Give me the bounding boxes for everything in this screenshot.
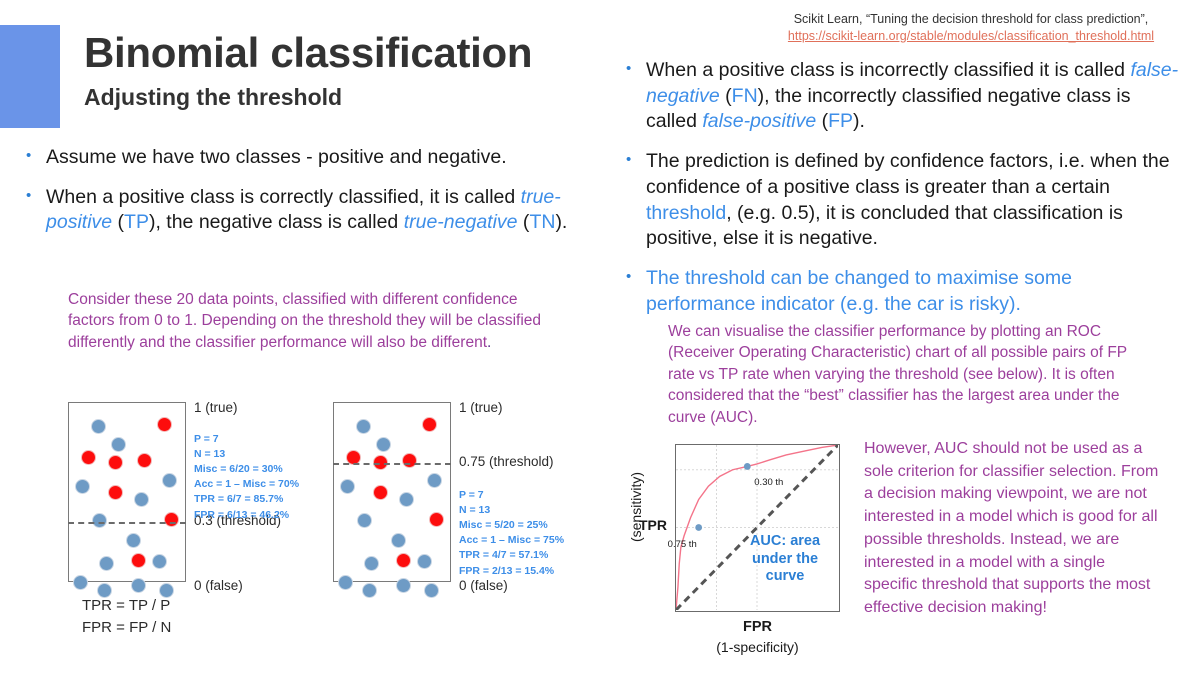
- data-point-negative: [399, 492, 414, 507]
- roc-x-axis-sublabel: (1-specificity): [675, 639, 840, 655]
- data-point-negative: [73, 575, 88, 590]
- threshold-label-b: 0.75 (threshold): [459, 454, 554, 469]
- data-point-positive: [131, 553, 146, 568]
- right-bullet-item: •When a positive class is incorrectly cl…: [626, 58, 1184, 135]
- data-point-negative: [357, 513, 372, 528]
- data-point-positive: [108, 455, 123, 470]
- left-bullet-list: •Assume we have two classes - positive a…: [26, 145, 606, 250]
- left-bullet-text: When a positive class is correctly class…: [46, 185, 606, 236]
- data-point-negative: [362, 583, 377, 598]
- data-point-negative: [427, 473, 442, 488]
- data-point-negative: [424, 583, 439, 598]
- data-point-negative: [92, 513, 107, 528]
- auc-caveat-note: However, AUC should not be used as a sol…: [864, 438, 1159, 620]
- data-point-positive: [402, 453, 417, 468]
- bullet-marker-icon: •: [626, 58, 646, 79]
- left-bullet-item: •Assume we have two classes - positive a…: [26, 145, 606, 171]
- left-note-text: Consider these 20 data points, classifie…: [68, 291, 541, 351]
- slide: Scikit Learn, “Tuning the decision thres…: [0, 0, 1200, 675]
- data-point-negative: [111, 437, 126, 452]
- citation-text: Scikit Learn, “Tuning the decision thres…: [794, 12, 1149, 26]
- left-bullet-item: •When a positive class is correctly clas…: [26, 185, 606, 236]
- title-block: Binomial classification Adjusting the th…: [84, 30, 644, 111]
- citation-url-link[interactable]: https://scikit-learn.org/stable/modules/…: [756, 28, 1186, 45]
- data-point-negative: [75, 479, 90, 494]
- stat-line: N = 13: [194, 447, 299, 462]
- top-label-b: 1 (true): [459, 400, 503, 415]
- threshold-line-a: [68, 522, 186, 524]
- data-point-positive: [157, 417, 172, 432]
- right-note-paragraph: We can visualise the classifier performa…: [668, 321, 1148, 428]
- data-point-negative: [131, 578, 146, 593]
- data-point-negative: [356, 419, 371, 434]
- stat-line: Acc = 1 – Misc = 70%: [194, 477, 299, 492]
- roc-point-label-075: 0.75 th: [668, 539, 697, 550]
- stat-line: TPR = 6/7 = 85.7%: [194, 492, 299, 507]
- roc-x-axis-label: FPR: [675, 619, 840, 635]
- data-point-positive: [164, 512, 179, 527]
- roc-y-axis-label: TPR: [639, 517, 667, 533]
- left-note-paragraph: Consider these 20 data points, classifie…: [68, 289, 558, 353]
- roc-plot-area: [675, 444, 840, 612]
- accent-square-decoration: [0, 25, 60, 128]
- bullet-marker-icon: •: [626, 266, 646, 287]
- threshold-line-b: [333, 463, 451, 465]
- right-bullet-item: •The threshold can be changed to maximis…: [626, 266, 1184, 317]
- data-point-positive: [373, 485, 388, 500]
- bullet-marker-icon: •: [26, 185, 46, 206]
- stats-block-b: P = 7N = 13Misc = 5/20 = 25%Acc = 1 – Mi…: [459, 488, 564, 579]
- data-point-negative: [391, 533, 406, 548]
- roc-chart: (sensitivity) TPR 0.30 th 0.75 th AUC: a…: [605, 437, 870, 667]
- data-point-negative: [396, 578, 411, 593]
- bullet-marker-icon: •: [26, 145, 46, 166]
- data-point-positive: [429, 512, 444, 527]
- stats-block-a: P = 7N = 13Misc = 6/20 = 30%Acc = 1 – Mi…: [194, 432, 299, 523]
- data-point-negative: [91, 419, 106, 434]
- data-point-negative: [162, 473, 177, 488]
- data-point-positive: [108, 485, 123, 500]
- data-point-negative: [376, 437, 391, 452]
- bullet-marker-icon: •: [626, 149, 646, 170]
- top-label-a: 1 (true): [194, 400, 238, 415]
- stat-line: N = 13: [459, 503, 564, 518]
- data-point-positive: [137, 453, 152, 468]
- data-point-negative: [338, 575, 353, 590]
- stat-line: Misc = 5/20 = 25%: [459, 518, 564, 533]
- threshold-diagram-a: 1 (true) 0.3 (threshold) 0 (false) P = 7…: [68, 402, 328, 637]
- stat-line: FPR = 6/13 = 46.2%: [194, 508, 299, 523]
- roc-threshold-marker: [744, 463, 751, 470]
- right-bullet-item: •The prediction is defined by confidence…: [626, 149, 1184, 252]
- data-point-positive: [81, 450, 96, 465]
- stat-line: TPR = 4/7 = 57.1%: [459, 548, 564, 563]
- data-point-positive: [396, 553, 411, 568]
- rate-formulas: TPR = TP / PFPR = FP / N: [82, 595, 171, 639]
- data-point-positive: [422, 417, 437, 432]
- right-bullet-text: The threshold can be changed to maximise…: [646, 266, 1184, 317]
- page-title: Binomial classification: [84, 30, 644, 75]
- bottom-label-b: 0 (false): [459, 578, 508, 593]
- auc-annotation: AUC: area under the curve: [733, 533, 837, 586]
- stat-line: Misc = 6/20 = 30%: [194, 462, 299, 477]
- bottom-label-a: 0 (false): [194, 578, 243, 593]
- roc-point-label-030: 0.30 th: [754, 477, 783, 488]
- left-bullet-text: Assume we have two classes - positive an…: [46, 145, 606, 171]
- data-point-negative: [340, 479, 355, 494]
- page-subtitle: Adjusting the threshold: [84, 85, 644, 110]
- data-point-negative: [134, 492, 149, 507]
- data-point-negative: [364, 556, 379, 571]
- stat-line: P = 7: [194, 432, 299, 447]
- right-bullet-text: The prediction is defined by confidence …: [646, 149, 1184, 252]
- threshold-diagram-b: 1 (true) 0.75 (threshold) 0 (false) P = …: [333, 402, 593, 612]
- left-note-tail: .: [487, 334, 491, 351]
- right-bullet-list: •When a positive class is incorrectly cl…: [626, 58, 1184, 332]
- roc-threshold-marker: [695, 524, 702, 531]
- formula-line: TPR = TP / P: [82, 595, 171, 617]
- data-point-negative: [417, 554, 432, 569]
- data-point-negative: [126, 533, 141, 548]
- formula-line: FPR = FP / N: [82, 617, 171, 639]
- data-point-negative: [152, 554, 167, 569]
- source-citation: Scikit Learn, “Tuning the decision thres…: [756, 11, 1186, 45]
- right-bullet-text: When a positive class is incorrectly cla…: [646, 58, 1184, 135]
- class-points-box-b: [333, 402, 451, 582]
- stat-line: P = 7: [459, 488, 564, 503]
- data-point-negative: [99, 556, 114, 571]
- stat-line: Acc = 1 – Misc = 75%: [459, 533, 564, 548]
- class-points-box-a: [68, 402, 186, 582]
- stat-line: FPR = 2/13 = 15.4%: [459, 564, 564, 579]
- roc-y-axis-sublabel: (sensitivity): [628, 452, 644, 562]
